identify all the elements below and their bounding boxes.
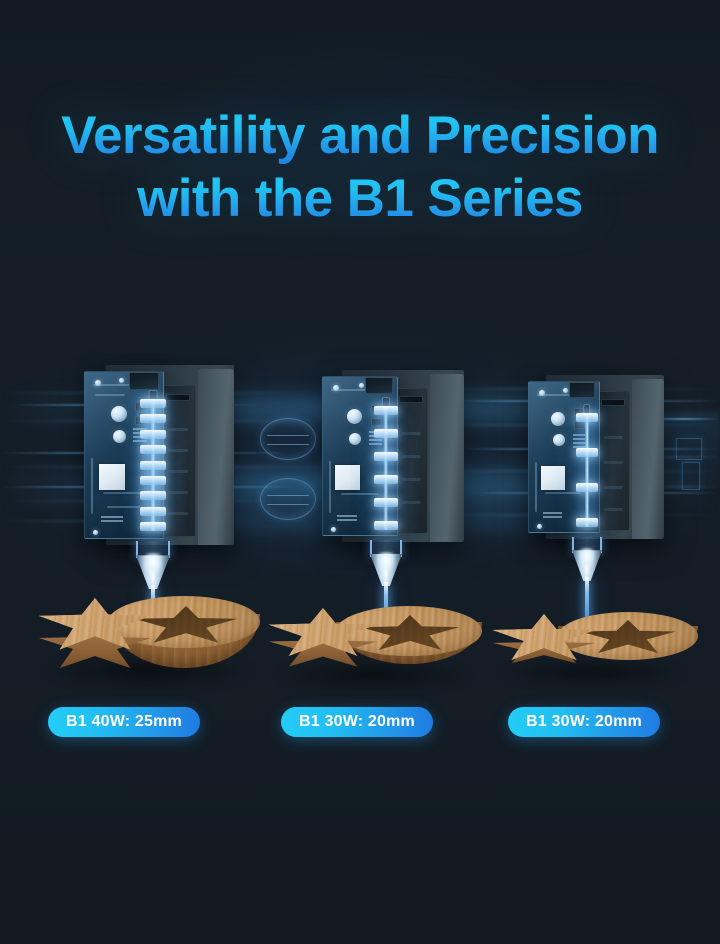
laser-module-30w-a xyxy=(322,370,464,550)
laser-nozzle xyxy=(370,540,402,586)
capacitor-small xyxy=(349,433,361,445)
blueprint-block-b xyxy=(682,462,700,490)
lens-ring-glow-top xyxy=(260,418,316,460)
spec-badge-30w-b: B1 30W: 20mm xyxy=(508,707,660,737)
heatsink-panel xyxy=(596,391,630,531)
capacitor-large xyxy=(551,412,565,426)
pcb-connector xyxy=(129,372,159,390)
ic-chip xyxy=(335,465,360,490)
spec-badge-30w-a: B1 30W: 20mm xyxy=(281,707,433,737)
laser-module-40w xyxy=(84,365,234,550)
heading-line-1: Versatility and Precision xyxy=(0,104,720,167)
capacitor-large xyxy=(111,406,127,422)
laser-module-30w-b xyxy=(528,375,664,549)
capacitor-large xyxy=(347,409,362,424)
pcb-connector xyxy=(569,382,595,398)
capacitor-small xyxy=(113,430,126,443)
blueprint-block-a xyxy=(676,438,702,460)
ic-chip xyxy=(541,466,565,490)
heading-line-2: with the B1 Series xyxy=(0,167,720,230)
spec-badge-40w: B1 40W: 25mm xyxy=(48,707,200,737)
lens-ring-glow-bottom xyxy=(260,478,316,520)
laser-nozzle xyxy=(572,537,602,581)
capacitor-small xyxy=(553,434,565,446)
wood-disc-star-cutout-thick xyxy=(26,588,266,688)
laser-diode-stack xyxy=(576,413,598,527)
pcb-connector xyxy=(365,377,393,394)
wood-disc-star-cutout-thin xyxy=(484,604,700,688)
hero-heading: Versatility and Precision with the B1 Se… xyxy=(0,104,720,230)
laser-nozzle xyxy=(136,541,170,589)
laser-diode-stack xyxy=(374,406,398,530)
heatsink-panel xyxy=(394,388,428,534)
product-hero-banner: Versatility and Precision with the B1 Se… xyxy=(0,0,720,944)
ic-chip xyxy=(99,464,125,490)
laser-diode-stack xyxy=(140,399,166,531)
wood-disc-star-cutout-medium xyxy=(258,598,486,690)
